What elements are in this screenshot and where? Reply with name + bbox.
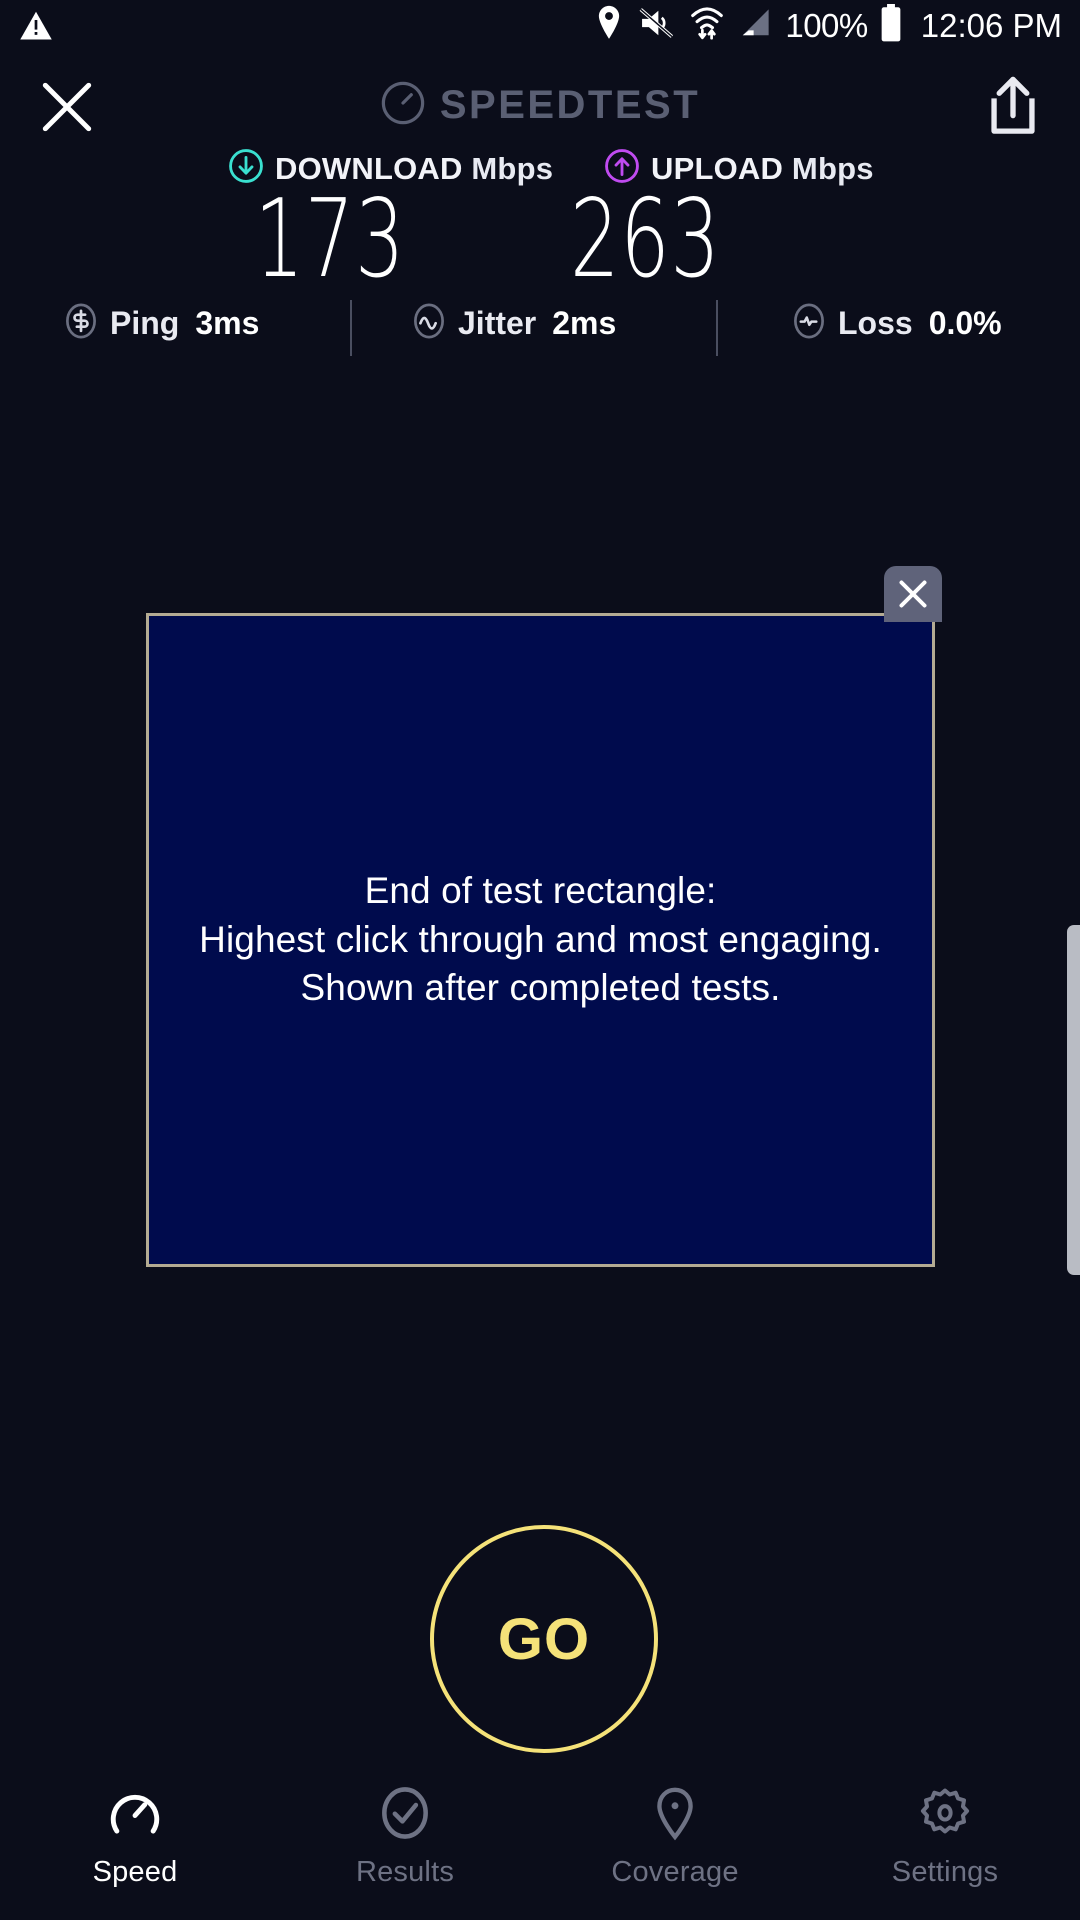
ad-text: End of test rectangle: Highest click thr… [183,867,898,1013]
nav-item-speed[interactable]: Speed [0,1760,270,1920]
metric-divider-2 [716,300,718,356]
upload-value: 263 [570,186,721,294]
app-screen: 100% 12:06 PM SPE [0,0,1080,1920]
map-pin-icon [646,1782,704,1844]
cellular-signal-icon [738,8,772,43]
result-labels-row: DOWNLOAD Mbps UPLOAD Mbps [0,140,1080,192]
brand-title: SPEEDTEST [440,83,700,128]
battery-full-icon [879,4,903,47]
metric-jitter-value: 2ms [552,305,616,342]
nav-label-coverage: Coverage [611,1856,738,1889]
go-button[interactable]: GO [430,1525,658,1753]
metrics-row: Ping 3ms Jitter 2ms Loss 0.0 [0,300,1080,360]
nav-label-settings: Settings [892,1856,998,1889]
advertisement-banner[interactable]: End of test rectangle: Highest click thr… [146,613,935,1267]
ping-icon [62,302,100,345]
nav-item-coverage[interactable]: Coverage [540,1760,810,1920]
ad-line-3: Shown after completed tests. [199,964,882,1013]
go-button-label: GO [498,1606,590,1673]
metric-loss: Loss 0.0% [790,302,1002,345]
metric-jitter-label: Jitter [458,305,536,342]
check-circle-icon [376,1782,434,1844]
location-pin-icon [593,4,625,47]
nav-item-settings[interactable]: Settings [810,1760,1080,1920]
speedometer-icon [380,80,426,131]
jitter-icon [410,302,448,345]
status-bar-clock: 12:06 PM [921,9,1062,42]
gear-icon [916,1782,974,1844]
vertical-scrollbar[interactable] [1067,925,1080,1275]
status-bar: 100% 12:06 PM [0,0,1080,56]
status-bar-left [18,8,54,49]
battery-percent-label: 100% [785,9,867,42]
download-value: 173 [255,186,406,294]
nav-item-results[interactable]: Results [270,1760,540,1920]
status-bar-right: 100% 12:06 PM [593,4,1062,47]
metric-loss-value: 0.0% [929,305,1002,342]
metric-ping: Ping 3ms [62,302,259,345]
share-button[interactable] [982,74,1044,140]
ad-line-2: Highest click through and most engaging. [199,916,882,965]
metric-ping-value: 3ms [195,305,259,342]
speed-results: DOWNLOAD Mbps UPLOAD Mbps 173 263 [0,140,1080,304]
brand-lockup: SPEEDTEST [0,80,1080,131]
bottom-navigation: Speed Results Coverage [0,1760,1080,1920]
metric-divider-1 [350,300,352,356]
speedometer-icon [106,1782,164,1844]
volume-muted-icon [638,6,676,45]
wifi-transfer-icon [689,4,725,47]
metric-jitter: Jitter 2ms [410,302,616,345]
metric-loss-label: Loss [838,305,913,342]
nav-label-results: Results [356,1856,454,1889]
loss-icon [790,302,828,345]
metric-ping-label: Ping [110,305,179,342]
ad-line-1: End of test rectangle: [199,867,882,916]
warning-triangle-icon [18,8,54,49]
nav-label-speed: Speed [93,1856,178,1889]
ad-close-button[interactable] [884,566,942,622]
result-values-row: 173 263 [0,192,1080,304]
